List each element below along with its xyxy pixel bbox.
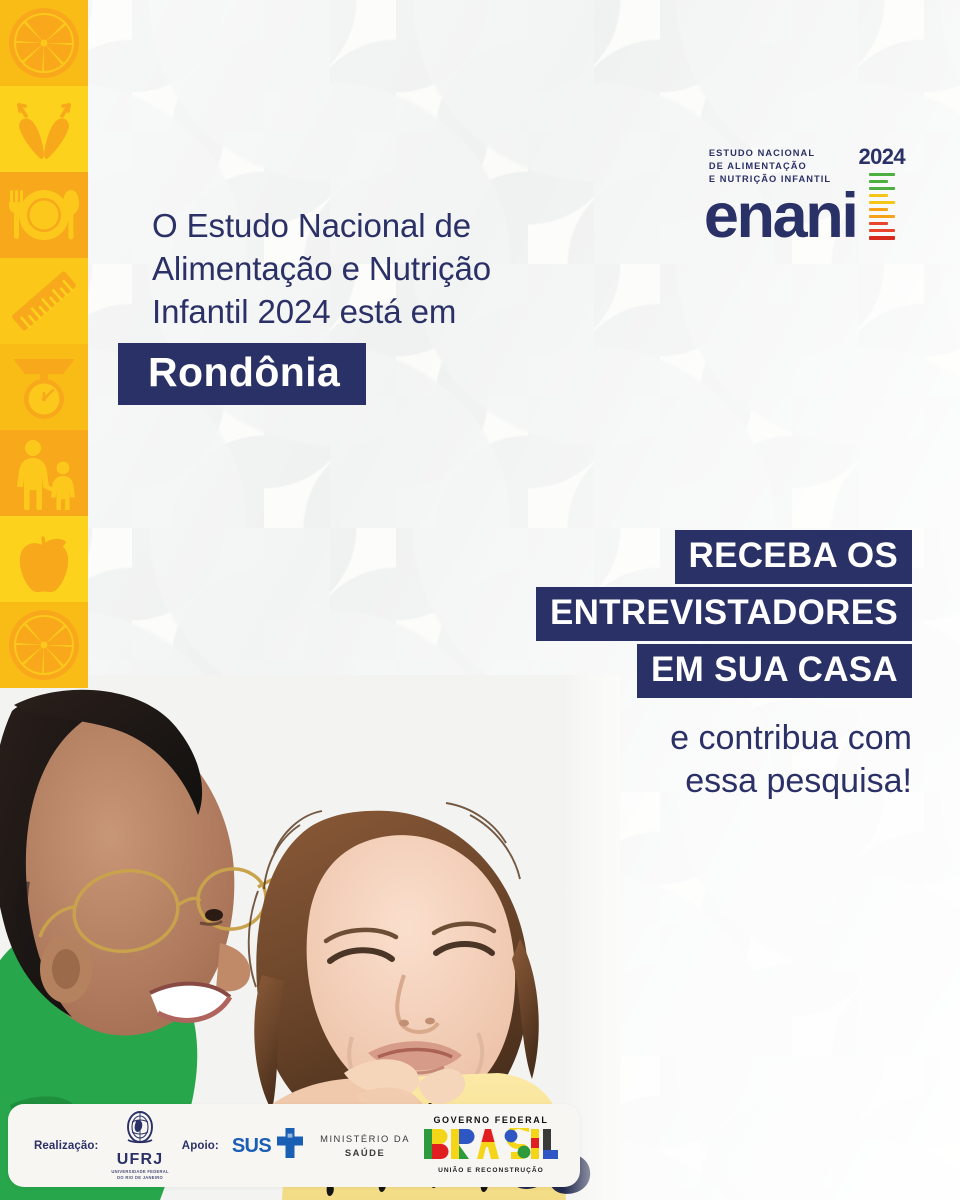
enani-wordmark: enani: [704, 191, 857, 241]
cta-tail-line-1: e contribua com: [536, 717, 912, 760]
mother-child-icon: [6, 436, 82, 510]
icon-cell-apple: [0, 516, 88, 602]
headline-line-2: Alimentação e Nutrição: [152, 248, 622, 291]
ufrj-subtitle-line-2: DO RIO DE JANEIRO: [111, 1175, 168, 1181]
ufrj-logo: UFRJ UNIVERSIDADE FEDERAL DO RIO DE JANE…: [111, 1110, 168, 1181]
growth-ruler-icon: [869, 173, 895, 240]
governo-federal-label: GOVERNO FEDERAL: [433, 1116, 548, 1125]
governo-federal-tagline: UNIÃO E RECONSTRUÇÃO: [438, 1168, 544, 1175]
apple-icon: [7, 524, 81, 594]
icon-cell-weighing-scale: [0, 344, 88, 430]
ministerio-saude-logo: MINISTÉRIO DA SAÚDE: [320, 1132, 410, 1159]
headline-block: O Estudo Nacional de Alimentação e Nutri…: [152, 205, 622, 405]
orange-slice-icon: [7, 608, 81, 682]
realizacao-label: Realização:: [34, 1140, 98, 1152]
icon-cell-orange-slice-top: [0, 0, 88, 86]
cta-line-2: ENTREVISTADORES: [536, 587, 912, 641]
governo-federal-logo: GOVERNO FEDERAL: [423, 1116, 559, 1175]
cta-tail-line-2: essa pesquisa!: [536, 760, 912, 803]
enani-logo: ESTUDO NACIONAL DE ALIMENTAÇÃO E NUTRIÇÃ…: [704, 146, 905, 241]
carrots-icon: [8, 94, 80, 164]
sus-wordmark: SUS: [232, 1136, 271, 1156]
brasil-brandmark-icon: [423, 1128, 559, 1165]
enani-subtitle-line-2: DE ALIMENTAÇÃO: [709, 160, 831, 173]
ruler-icon: [7, 266, 81, 336]
state-name-badge: Rondônia: [118, 343, 366, 406]
plate-cutlery-icon: [5, 182, 83, 248]
poster-canvas: ESTUDO NACIONAL DE ALIMENTAÇÃO E NUTRIÇÃ…: [0, 0, 960, 1200]
enani-year-label: 2024: [858, 146, 905, 168]
footer-logo-bar: Realização: UFRJ UNIVERSIDADE FEDERAL DO…: [8, 1104, 580, 1187]
cta-line-1: RECEBA OS: [675, 530, 913, 584]
icon-cell-orange-slice-bottom: [0, 602, 88, 688]
orange-slice-icon: [7, 6, 81, 80]
sus-logo: SUS: [232, 1126, 307, 1165]
icon-cell-plate-cutlery: [0, 172, 88, 258]
ufrj-wordmark: UFRJ: [117, 1152, 164, 1168]
cta-tail: e contribua com essa pesquisa!: [536, 717, 912, 803]
ufrj-seal-icon: [122, 1110, 158, 1151]
cta-line-3: EM SUA CASA: [637, 644, 912, 698]
icon-cell-carrots: [0, 86, 88, 172]
ufrj-subtitle: UNIVERSIDADE FEDERAL DO RIO DE JANEIRO: [111, 1169, 168, 1181]
cta-block: RECEBA OS ENTREVISTADORES EM SUA CASA e …: [536, 530, 912, 803]
ministerio-line-1: MINISTÉRIO DA: [320, 1132, 410, 1145]
headline-line-1: O Estudo Nacional de: [152, 205, 622, 248]
ministerio-line-2: SAÚDE: [320, 1146, 410, 1159]
sidebar-icon-strip: [0, 0, 88, 688]
apoio-label: Apoio:: [182, 1140, 219, 1152]
icon-cell-mother-child: [0, 430, 88, 516]
enani-subtitle-line-1: ESTUDO NACIONAL: [709, 147, 831, 160]
weighing-scale-icon: [7, 351, 81, 423]
icon-cell-ruler: [0, 258, 88, 344]
medical-cross-icon: [273, 1126, 307, 1165]
headline-line-3: Infantil 2024 está em: [152, 291, 622, 334]
